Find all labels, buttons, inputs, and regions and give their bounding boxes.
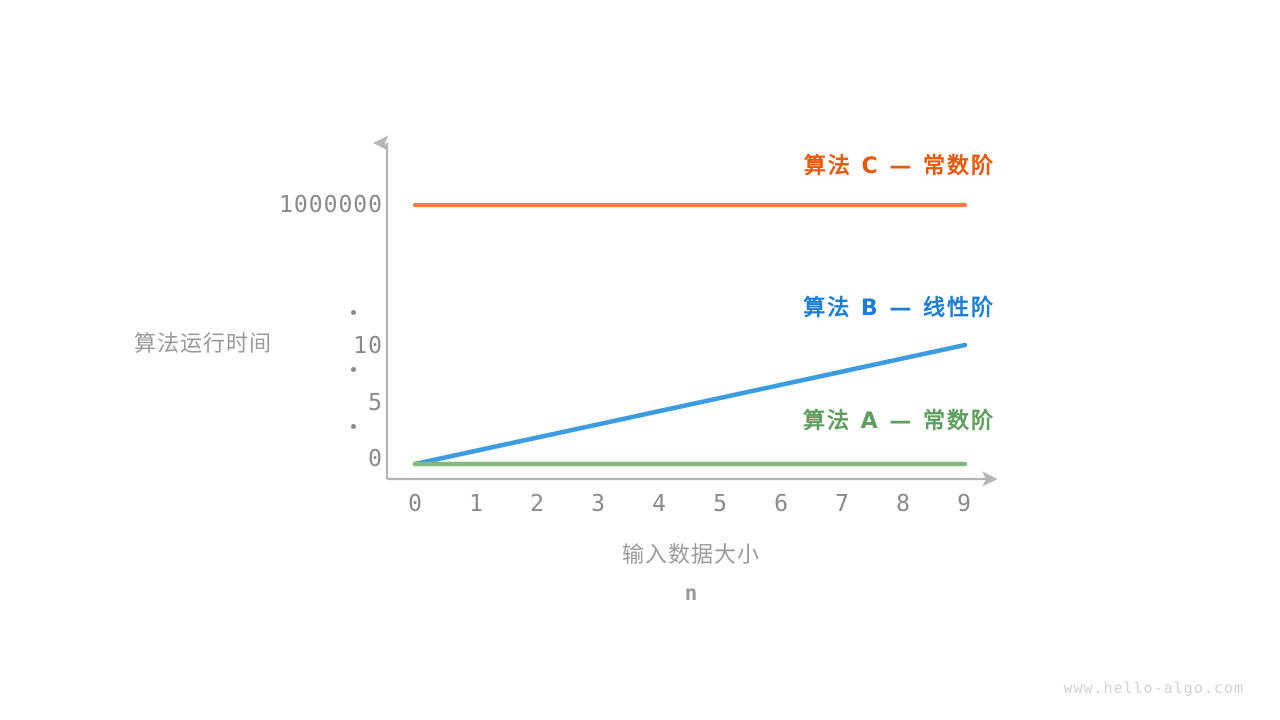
x-tick-9: 9 bbox=[944, 493, 984, 516]
y-tick-1000000: 1000000 bbox=[279, 194, 383, 217]
x-tick-1: 1 bbox=[456, 493, 496, 516]
series-label-a: 算法 A — 常数阶 bbox=[675, 411, 995, 433]
series-label-b: 算法 B — 线性阶 bbox=[675, 298, 995, 320]
plot-area bbox=[0, 0, 1280, 720]
y-tick-ellipsis bbox=[341, 264, 365, 475]
x-tick-8: 8 bbox=[883, 493, 923, 516]
x-axis-title: 输入数据大小 bbox=[591, 545, 791, 567]
x-tick-7: 7 bbox=[822, 493, 862, 516]
x-tick-0: 0 bbox=[395, 493, 435, 516]
ellipsis-dot bbox=[351, 310, 356, 315]
y-axis-title: 算法运行时间 bbox=[134, 334, 272, 356]
x-tick-6: 6 bbox=[761, 493, 801, 516]
x-tick-3: 3 bbox=[578, 493, 618, 516]
ellipsis-dot bbox=[351, 424, 356, 429]
ellipsis-dot bbox=[351, 367, 356, 372]
x-tick-4: 4 bbox=[639, 493, 679, 516]
x-axis-symbol: n bbox=[591, 583, 791, 604]
y-tick-0: 0 bbox=[368, 448, 383, 471]
series-label-c: 算法 C — 常数阶 bbox=[675, 156, 995, 178]
x-tick-5: 5 bbox=[700, 493, 740, 516]
watermark: www.hello-algo.com bbox=[1063, 681, 1244, 696]
series-line-b bbox=[415, 345, 965, 464]
y-tick-10: 10 bbox=[353, 335, 383, 358]
x-tick-2: 2 bbox=[517, 493, 557, 516]
chart-container: 1000000 10 5 0 0 1 2 3 4 5 6 7 8 9 算法运行时… bbox=[0, 0, 1280, 720]
y-tick-5: 5 bbox=[368, 392, 383, 415]
